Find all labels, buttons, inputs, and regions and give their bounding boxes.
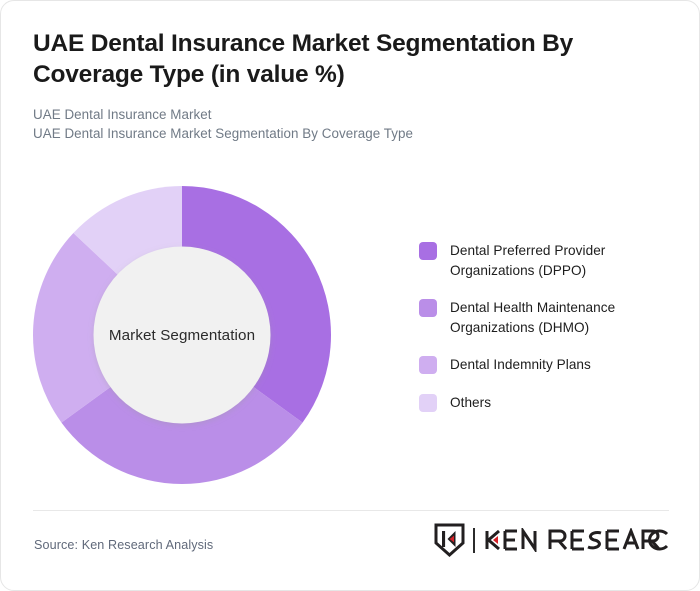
legend-swatch-icon	[419, 299, 437, 317]
legend-item-label: Dental Preferred Provider Organizations …	[450, 241, 669, 281]
donut-chart-svg	[32, 185, 332, 485]
legend-item-label: Others	[450, 393, 491, 413]
donut-hole	[94, 247, 271, 424]
shield-k-logo-icon	[434, 523, 465, 557]
subtitle-block: UAE Dental Insurance Market UAE Dental I…	[33, 105, 653, 144]
legend-item[interactable]: Dental Health Maintenance Organizations …	[419, 298, 669, 338]
ken-research-logo	[434, 523, 669, 557]
donut-chart: Market Segmentation	[32, 185, 332, 485]
legend-swatch-icon	[419, 242, 437, 260]
legend-item-label: Dental Indemnity Plans	[450, 355, 591, 375]
breadcrumb-segmentation: UAE Dental Insurance Market Segmentation…	[33, 124, 653, 144]
source-text: Source: Ken Research Analysis	[34, 538, 213, 552]
legend-swatch-icon	[419, 394, 437, 412]
footer-divider	[33, 510, 669, 511]
page-title: UAE Dental Insurance Market Segmentation…	[33, 29, 653, 91]
chart-card: UAE Dental Insurance Market Segmentation…	[0, 0, 700, 591]
chart-legend: Dental Preferred Provider Organizations …	[419, 241, 669, 413]
legend-item-label: Dental Health Maintenance Organizations …	[450, 298, 669, 338]
legend-swatch-icon	[419, 356, 437, 374]
logo-divider	[473, 528, 475, 553]
legend-item[interactable]: Others	[419, 393, 669, 413]
ken-research-wordmark	[484, 528, 669, 552]
chart-header: UAE Dental Insurance Market Segmentation…	[33, 29, 653, 144]
legend-item[interactable]: Dental Preferred Provider Organizations …	[419, 241, 669, 281]
legend-item[interactable]: Dental Indemnity Plans	[419, 355, 669, 375]
breadcrumb-market: UAE Dental Insurance Market	[33, 105, 653, 125]
